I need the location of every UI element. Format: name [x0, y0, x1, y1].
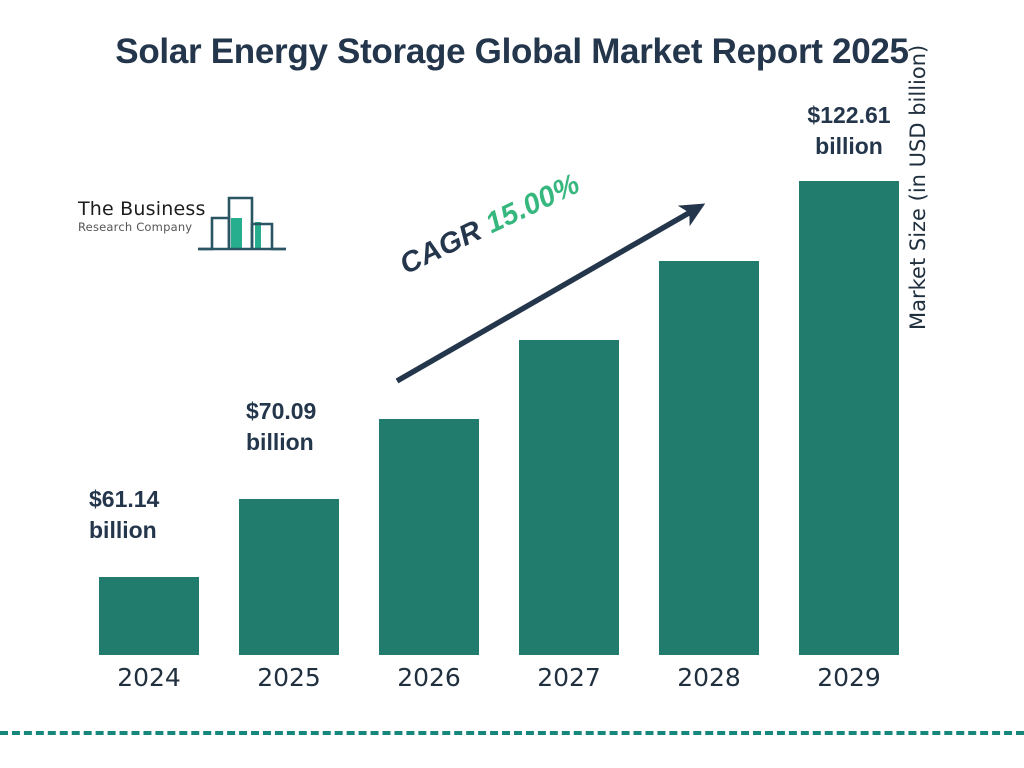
value-label-2025-unit: billion	[246, 427, 316, 458]
value-label-2024-unit: billion	[89, 515, 159, 546]
value-label-2024: $61.14 billion	[89, 484, 159, 545]
bar-chart-outline-logo-mark	[196, 192, 288, 259]
chart-canvas: Solar Energy Storage Global Market Repor…	[0, 0, 1024, 768]
value-label-2024-amount: $61.14	[89, 484, 159, 515]
value-label-2025-amount: $70.09	[246, 396, 316, 427]
company-logo: The Business Research Company	[78, 192, 288, 254]
logo-line-1: The Business	[78, 200, 208, 220]
value-label-2025: $70.09 billion	[246, 396, 316, 457]
footer-divider	[0, 731, 1024, 735]
x-tick-2024: 2024	[99, 663, 199, 692]
value-label-2029-unit: billion	[781, 131, 917, 162]
cagr-annotation: CAGR 15.00%	[395, 168, 585, 282]
bar-2029	[799, 181, 899, 655]
x-tick-2026: 2026	[379, 663, 479, 692]
x-tick-2027: 2027	[519, 663, 619, 692]
x-tick-2029: 2029	[799, 663, 899, 692]
y-axis-title: Market Size (in USD billion)	[906, 0, 930, 330]
value-label-2029: $122.61 billion	[781, 100, 917, 161]
bar-2024	[99, 577, 199, 655]
bar-2028	[659, 261, 759, 655]
page-title: Solar Energy Storage Global Market Repor…	[70, 30, 954, 75]
x-tick-2028: 2028	[659, 663, 759, 692]
bar-2026	[379, 419, 479, 655]
logo-text: The Business Research Company	[78, 200, 208, 235]
cagr-label: CAGR	[395, 215, 487, 281]
bar-2027	[519, 340, 619, 655]
bar-2025	[239, 499, 339, 655]
x-tick-2025: 2025	[239, 663, 339, 692]
logo-line-2: Research Company	[78, 221, 208, 235]
cagr-value: 15.00%	[481, 168, 585, 240]
value-label-2029-amount: $122.61	[781, 100, 917, 131]
